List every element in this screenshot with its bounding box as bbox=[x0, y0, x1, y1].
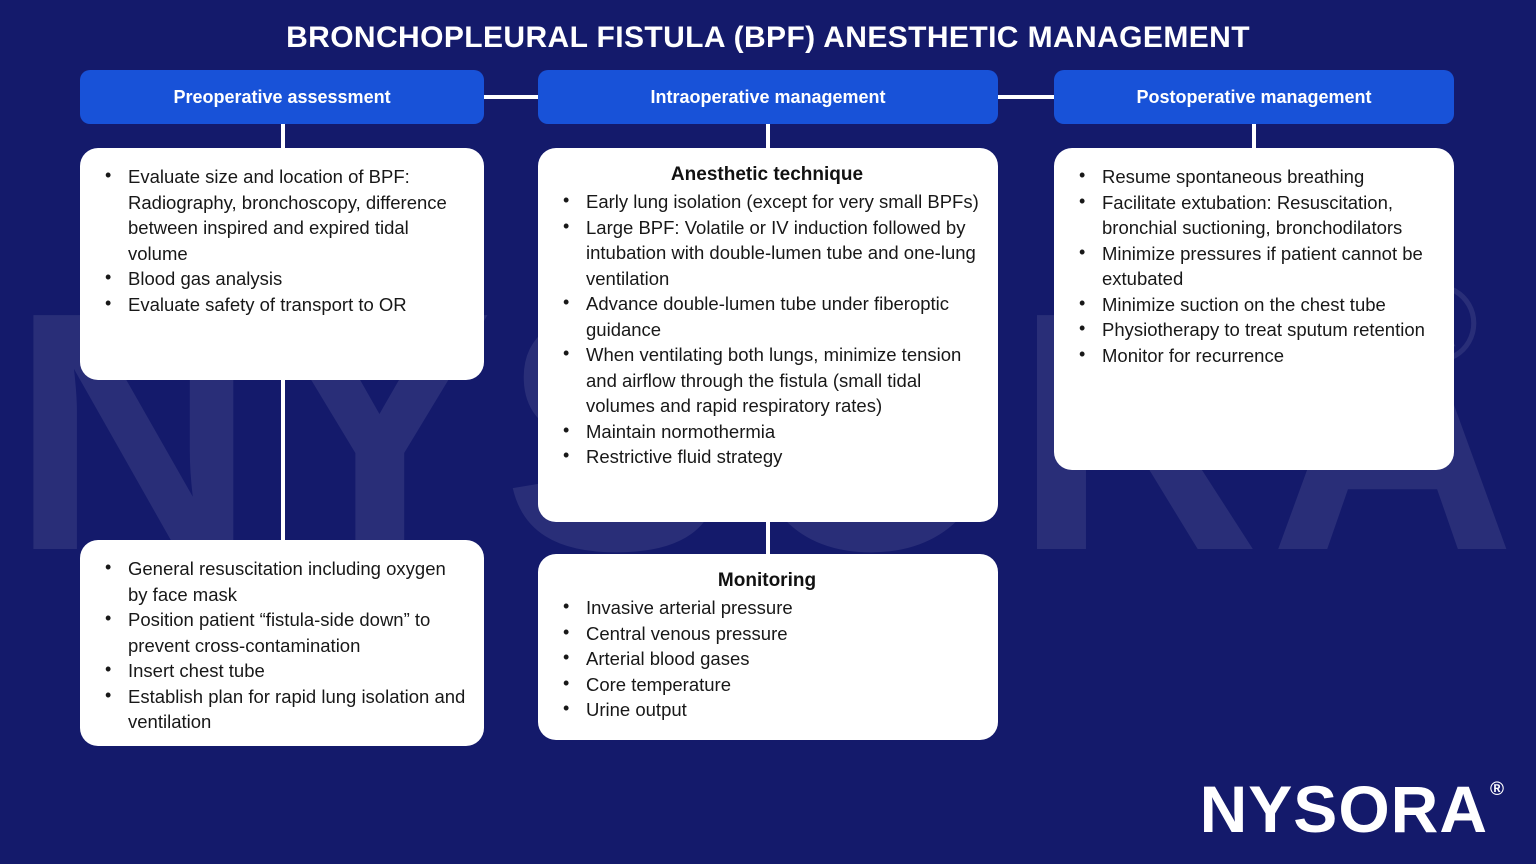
card-title: Anesthetic technique bbox=[554, 164, 980, 186]
card-title: Monitoring bbox=[554, 570, 980, 592]
list-item: Early lung isolation (except for very sm… bbox=[554, 189, 980, 215]
list-item: Minimize pressures if patient cannot be … bbox=[1070, 241, 1436, 292]
bullet-list: Resume spontaneous breathingFacilitate e… bbox=[1070, 164, 1436, 368]
connector-intraop-to-postop bbox=[994, 95, 1058, 99]
list-item: Restrictive fluid strategy bbox=[554, 444, 980, 470]
column-intraoperative: Intraoperative management bbox=[538, 70, 998, 124]
column-header-label: Preoperative assessment bbox=[173, 87, 390, 108]
list-item: Advance double-lumen tube under fiberopt… bbox=[554, 291, 980, 342]
nysora-logo: NYSORA ® bbox=[1200, 776, 1504, 842]
column-postoperative: Postoperative management bbox=[1054, 70, 1454, 124]
list-item: Large BPF: Volatile or IV induction foll… bbox=[554, 215, 980, 292]
list-item: Establish plan for rapid lung isolation … bbox=[96, 684, 466, 735]
list-item: Physiotherapy to treat sputum retention bbox=[1070, 317, 1436, 343]
card-anesthetic-technique: Anesthetic technique Early lung isolatio… bbox=[538, 148, 998, 522]
bullet-list: Evaluate size and location of BPF: Radio… bbox=[96, 164, 466, 317]
card-monitoring: Monitoring Invasive arterial pressureCen… bbox=[538, 554, 998, 740]
list-item: Position patient “fistula-side down” to … bbox=[96, 607, 466, 658]
list-item: General resuscitation including oxygen b… bbox=[96, 556, 466, 607]
column-header-label: Intraoperative management bbox=[650, 87, 885, 108]
list-item: Blood gas analysis bbox=[96, 266, 466, 292]
card-postoperative-management: Resume spontaneous breathingFacilitate e… bbox=[1054, 148, 1454, 470]
list-item: Urine output bbox=[554, 697, 980, 723]
list-item: Facilitate extubation: Resuscitation, br… bbox=[1070, 190, 1436, 241]
bullet-list: Early lung isolation (except for very sm… bbox=[554, 189, 980, 470]
list-item: Evaluate safety of transport to OR bbox=[96, 292, 466, 318]
page-title: BRONCHOPLEURAL FISTULA (BPF) ANESTHETIC … bbox=[0, 21, 1536, 55]
card-preoperative-assessment: Evaluate size and location of BPF: Radio… bbox=[80, 148, 484, 380]
list-item: Insert chest tube bbox=[96, 658, 466, 684]
list-item: Invasive arterial pressure bbox=[554, 595, 980, 621]
list-item: Arterial blood gases bbox=[554, 646, 980, 672]
list-item: Resume spontaneous breathing bbox=[1070, 164, 1436, 190]
column-header-label: Postoperative management bbox=[1136, 87, 1371, 108]
list-item: Maintain normothermia bbox=[554, 419, 980, 445]
registered-trademark-icon: ® bbox=[1490, 780, 1504, 799]
list-item: Evaluate size and location of BPF: Radio… bbox=[96, 164, 466, 266]
list-item: When ventilating both lungs, minimize te… bbox=[554, 342, 980, 419]
connector-preop-card1-to-card2 bbox=[281, 372, 285, 548]
column-header-intraoperative[interactable]: Intraoperative management bbox=[538, 70, 998, 124]
column-preoperative: Preoperative assessment bbox=[80, 70, 484, 124]
list-item: Minimize suction on the chest tube bbox=[1070, 292, 1436, 318]
column-header-preoperative[interactable]: Preoperative assessment bbox=[80, 70, 484, 124]
list-item: Monitor for recurrence bbox=[1070, 343, 1436, 369]
nysora-wordmark: NYSORA bbox=[1200, 776, 1488, 842]
card-preoperative-preparation: General resuscitation including oxygen b… bbox=[80, 540, 484, 746]
list-item: Central venous pressure bbox=[554, 621, 980, 647]
bullet-list: Invasive arterial pressureCentral venous… bbox=[554, 595, 980, 723]
connector-preop-to-intraop bbox=[480, 95, 542, 99]
list-item: Core temperature bbox=[554, 672, 980, 698]
bullet-list: General resuscitation including oxygen b… bbox=[96, 556, 466, 735]
column-header-postoperative[interactable]: Postoperative management bbox=[1054, 70, 1454, 124]
